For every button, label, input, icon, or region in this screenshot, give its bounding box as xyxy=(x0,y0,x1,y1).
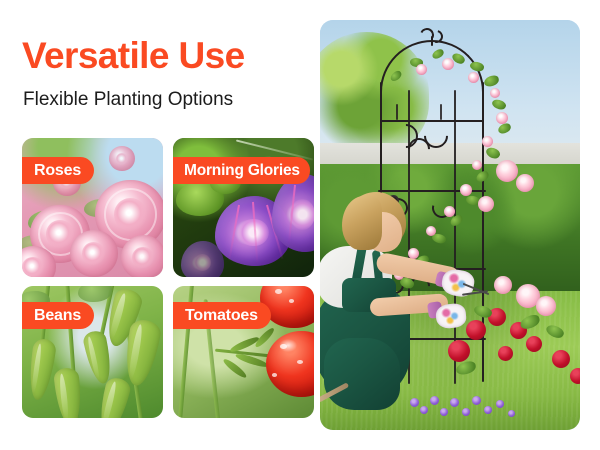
marketing-banner: Versatile Use Flexible Planting Options … xyxy=(0,0,600,450)
plant-badge-roses: Roses xyxy=(22,157,94,184)
gardener-figure xyxy=(320,20,580,430)
hero-product-photo[interactable] xyxy=(320,20,580,430)
plant-card-grid: Roses Morning Glories xyxy=(22,138,314,419)
page-subtitle: Flexible Planting Options xyxy=(23,88,233,113)
gardening-glove-icon xyxy=(435,302,467,329)
plant-card-roses[interactable]: Roses xyxy=(22,138,163,277)
plant-card-beans[interactable]: Beans xyxy=(22,286,163,418)
plant-badge-beans: Beans xyxy=(22,302,94,329)
page-title: Versatile Use xyxy=(22,37,245,74)
plant-badge-tomatoes: Tomatoes xyxy=(173,302,271,329)
plant-badge-morning-glories: Morning Glories xyxy=(173,157,310,184)
plant-card-tomatoes[interactable]: Tomatoes xyxy=(173,286,314,418)
plant-card-morning-glories[interactable]: Morning Glories xyxy=(173,138,314,277)
